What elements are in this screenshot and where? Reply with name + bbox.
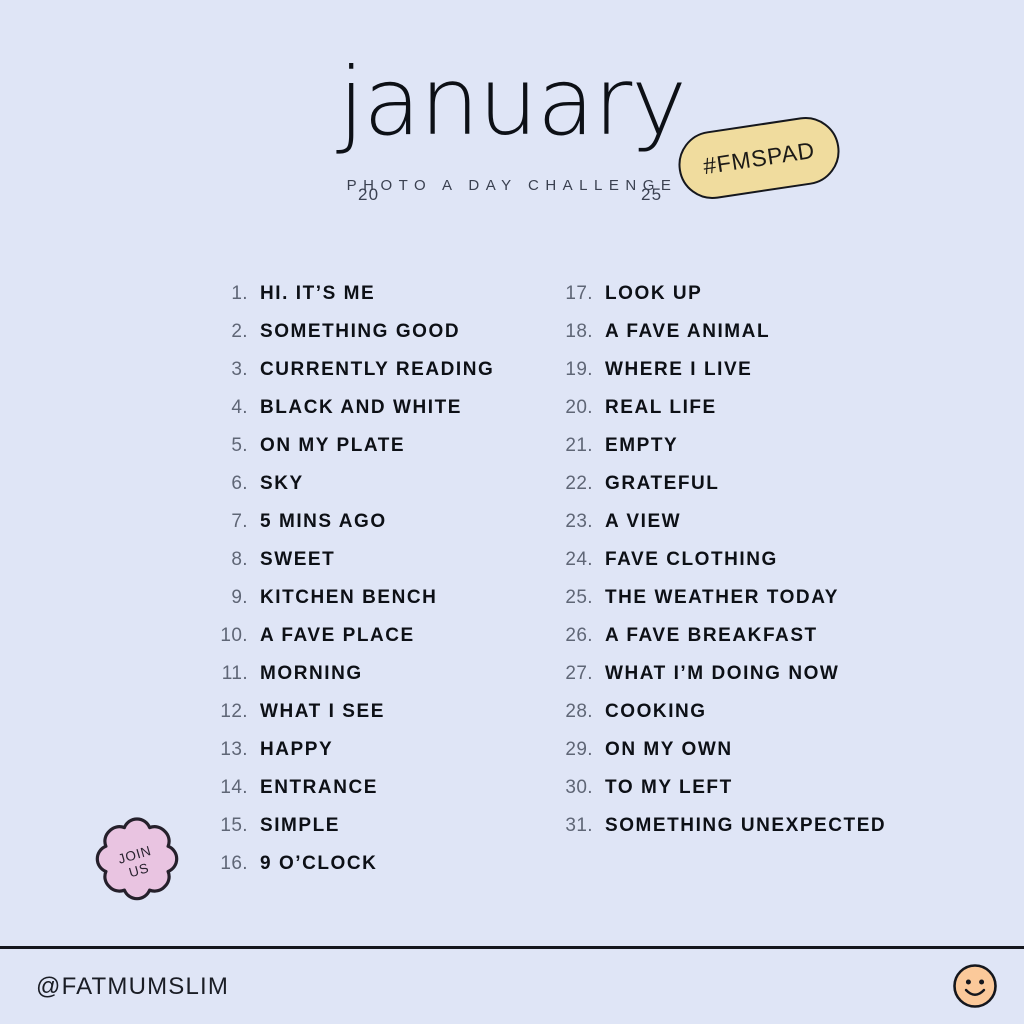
list-item-number: 14. bbox=[206, 777, 248, 799]
list-item-label: ENTRANCE bbox=[260, 777, 378, 799]
list-item-number: 23. bbox=[551, 511, 593, 533]
list-item[interactable]: 24.FAVE CLOTHING bbox=[551, 549, 911, 587]
list-item-number: 6. bbox=[206, 473, 248, 495]
list-item[interactable]: 14.ENTRANCE bbox=[206, 777, 506, 815]
list-item-number: 12. bbox=[206, 701, 248, 723]
list-item-label: SKY bbox=[260, 473, 304, 495]
list-item[interactable]: 29.ON MY OWN bbox=[551, 739, 911, 777]
list-item-label: TO MY LEFT bbox=[605, 777, 733, 799]
list-item[interactable]: 20.REAL LIFE bbox=[551, 397, 911, 435]
list-item-label: 9 O’CLOCK bbox=[260, 853, 377, 875]
list-item[interactable]: 7.5 MINS AGO bbox=[206, 511, 506, 549]
list-item[interactable]: 3.CURRENTLY READING bbox=[206, 359, 506, 397]
list-item[interactable]: 18.A FAVE ANIMAL bbox=[551, 321, 911, 359]
list-item-number: 26. bbox=[551, 625, 593, 647]
list-item[interactable]: 12.WHAT I SEE bbox=[206, 701, 506, 739]
list-item-label: COOKING bbox=[605, 701, 707, 723]
list-item-number: 22. bbox=[551, 473, 593, 495]
list-item-label: KITCHEN BENCH bbox=[260, 587, 437, 609]
list-item-label: ON MY PLATE bbox=[260, 435, 405, 457]
list-item-label: WHAT I’M DOING NOW bbox=[605, 663, 839, 685]
list-item-number: 5. bbox=[206, 435, 248, 457]
list-item-label: HAPPY bbox=[260, 739, 333, 761]
list-item[interactable]: 17.LOOK UP bbox=[551, 283, 911, 321]
list-item-label: REAL LIFE bbox=[605, 397, 717, 419]
list-item-label: A FAVE ANIMAL bbox=[605, 321, 770, 343]
list-item-number: 31. bbox=[551, 815, 593, 837]
list-item[interactable]: 26.A FAVE BREAKFAST bbox=[551, 625, 911, 663]
list-item-number: 7. bbox=[206, 511, 248, 533]
list-item[interactable]: 19.WHERE I LIVE bbox=[551, 359, 911, 397]
list-item-label: SOMETHING GOOD bbox=[260, 321, 460, 343]
list-item-label: LOOK UP bbox=[605, 283, 702, 305]
list-item-number: 18. bbox=[551, 321, 593, 343]
social-handle[interactable]: @FATMUMSLIM bbox=[36, 973, 229, 1001]
list-item[interactable]: 13.HAPPY bbox=[206, 739, 506, 777]
list-item[interactable]: 5.ON MY PLATE bbox=[206, 435, 506, 473]
list-item-number: 9. bbox=[206, 587, 248, 609]
list-item-label: BLACK AND WHITE bbox=[260, 397, 462, 419]
list-item-number: 11. bbox=[206, 663, 248, 685]
list-item-number: 30. bbox=[551, 777, 593, 799]
list-item-label: THE WEATHER TODAY bbox=[605, 587, 839, 609]
list-item[interactable]: 22.GRATEFUL bbox=[551, 473, 911, 511]
list-item-label: A VIEW bbox=[605, 511, 681, 533]
list-item[interactable]: 27.WHAT I’M DOING NOW bbox=[551, 663, 911, 701]
prompt-list-left-column: 1.HI. IT’S ME2.SOMETHING GOOD3.CURRENTLY… bbox=[206, 283, 506, 891]
list-item[interactable]: 16.9 O’CLOCK bbox=[206, 853, 506, 891]
list-item-number: 3. bbox=[206, 359, 248, 381]
list-item-number: 13. bbox=[206, 739, 248, 761]
list-item-number: 1. bbox=[206, 283, 248, 305]
list-item-label: A FAVE BREAKFAST bbox=[605, 625, 818, 647]
list-item-number: 28. bbox=[551, 701, 593, 723]
list-item-number: 2. bbox=[206, 321, 248, 343]
flower-icon bbox=[86, 812, 188, 914]
list-item-number: 10. bbox=[206, 625, 248, 647]
list-item[interactable]: 23.A VIEW bbox=[551, 511, 911, 549]
list-item[interactable]: 15.SIMPLE bbox=[206, 815, 506, 853]
list-item-label: FAVE CLOTHING bbox=[605, 549, 778, 571]
list-item[interactable]: 21.EMPTY bbox=[551, 435, 911, 473]
header: january 20 PHOTO A DAY CHALLENGE 25 #FMS… bbox=[0, 0, 1024, 240]
list-item-label: MORNING bbox=[260, 663, 363, 685]
list-item-label: CURRENTLY READING bbox=[260, 359, 494, 381]
year-suffix: 25 bbox=[641, 185, 662, 205]
list-item-number: 29. bbox=[551, 739, 593, 761]
list-item-number: 15. bbox=[206, 815, 248, 837]
list-item-label: HI. IT’S ME bbox=[260, 283, 375, 305]
list-item[interactable]: 25.THE WEATHER TODAY bbox=[551, 587, 911, 625]
list-item[interactable]: 10.A FAVE PLACE bbox=[206, 625, 506, 663]
join-us-badge[interactable]: JOIN US bbox=[86, 812, 188, 914]
list-item-label: WHAT I SEE bbox=[260, 701, 385, 723]
list-item-number: 25. bbox=[551, 587, 593, 609]
list-item[interactable]: 6.SKY bbox=[206, 473, 506, 511]
list-item[interactable]: 11.MORNING bbox=[206, 663, 506, 701]
list-item-number: 19. bbox=[551, 359, 593, 381]
list-item-number: 17. bbox=[551, 283, 593, 305]
list-item-label: SIMPLE bbox=[260, 815, 340, 837]
list-item-number: 8. bbox=[206, 549, 248, 571]
list-item-label: GRATEFUL bbox=[605, 473, 719, 495]
page-title: january bbox=[0, 56, 1024, 150]
list-item-number: 24. bbox=[551, 549, 593, 571]
list-item-number: 27. bbox=[551, 663, 593, 685]
smiley-face-icon bbox=[952, 963, 998, 1009]
list-item-label: SOMETHING UNEXPECTED bbox=[605, 815, 886, 837]
list-item-label: ON MY OWN bbox=[605, 739, 733, 761]
list-item-number: 16. bbox=[206, 853, 248, 875]
list-item-label: A FAVE PLACE bbox=[260, 625, 415, 647]
list-item-label: EMPTY bbox=[605, 435, 678, 457]
list-item-number: 20. bbox=[551, 397, 593, 419]
prompt-list-right-column: 17.LOOK UP18.A FAVE ANIMAL19.WHERE I LIV… bbox=[551, 283, 911, 853]
list-item[interactable]: 31.SOMETHING UNEXPECTED bbox=[551, 815, 911, 853]
footer: @FATMUMSLIM bbox=[0, 949, 1024, 1024]
list-item[interactable]: 9.KITCHEN BENCH bbox=[206, 587, 506, 625]
list-item[interactable]: 2.SOMETHING GOOD bbox=[206, 321, 506, 359]
list-item-label: SWEET bbox=[260, 549, 335, 571]
list-item[interactable]: 30.TO MY LEFT bbox=[551, 777, 911, 815]
list-item-label: 5 MINS AGO bbox=[260, 511, 387, 533]
list-item[interactable]: 28.COOKING bbox=[551, 701, 911, 739]
list-item[interactable]: 4.BLACK AND WHITE bbox=[206, 397, 506, 435]
list-item-label: WHERE I LIVE bbox=[605, 359, 752, 381]
hashtag-badge-label: #FMSPAD bbox=[701, 136, 816, 179]
list-item-number: 21. bbox=[551, 435, 593, 457]
list-item[interactable]: 8.SWEET bbox=[206, 549, 506, 587]
list-item-number: 4. bbox=[206, 397, 248, 419]
list-item[interactable]: 1.HI. IT’S ME bbox=[206, 283, 506, 321]
